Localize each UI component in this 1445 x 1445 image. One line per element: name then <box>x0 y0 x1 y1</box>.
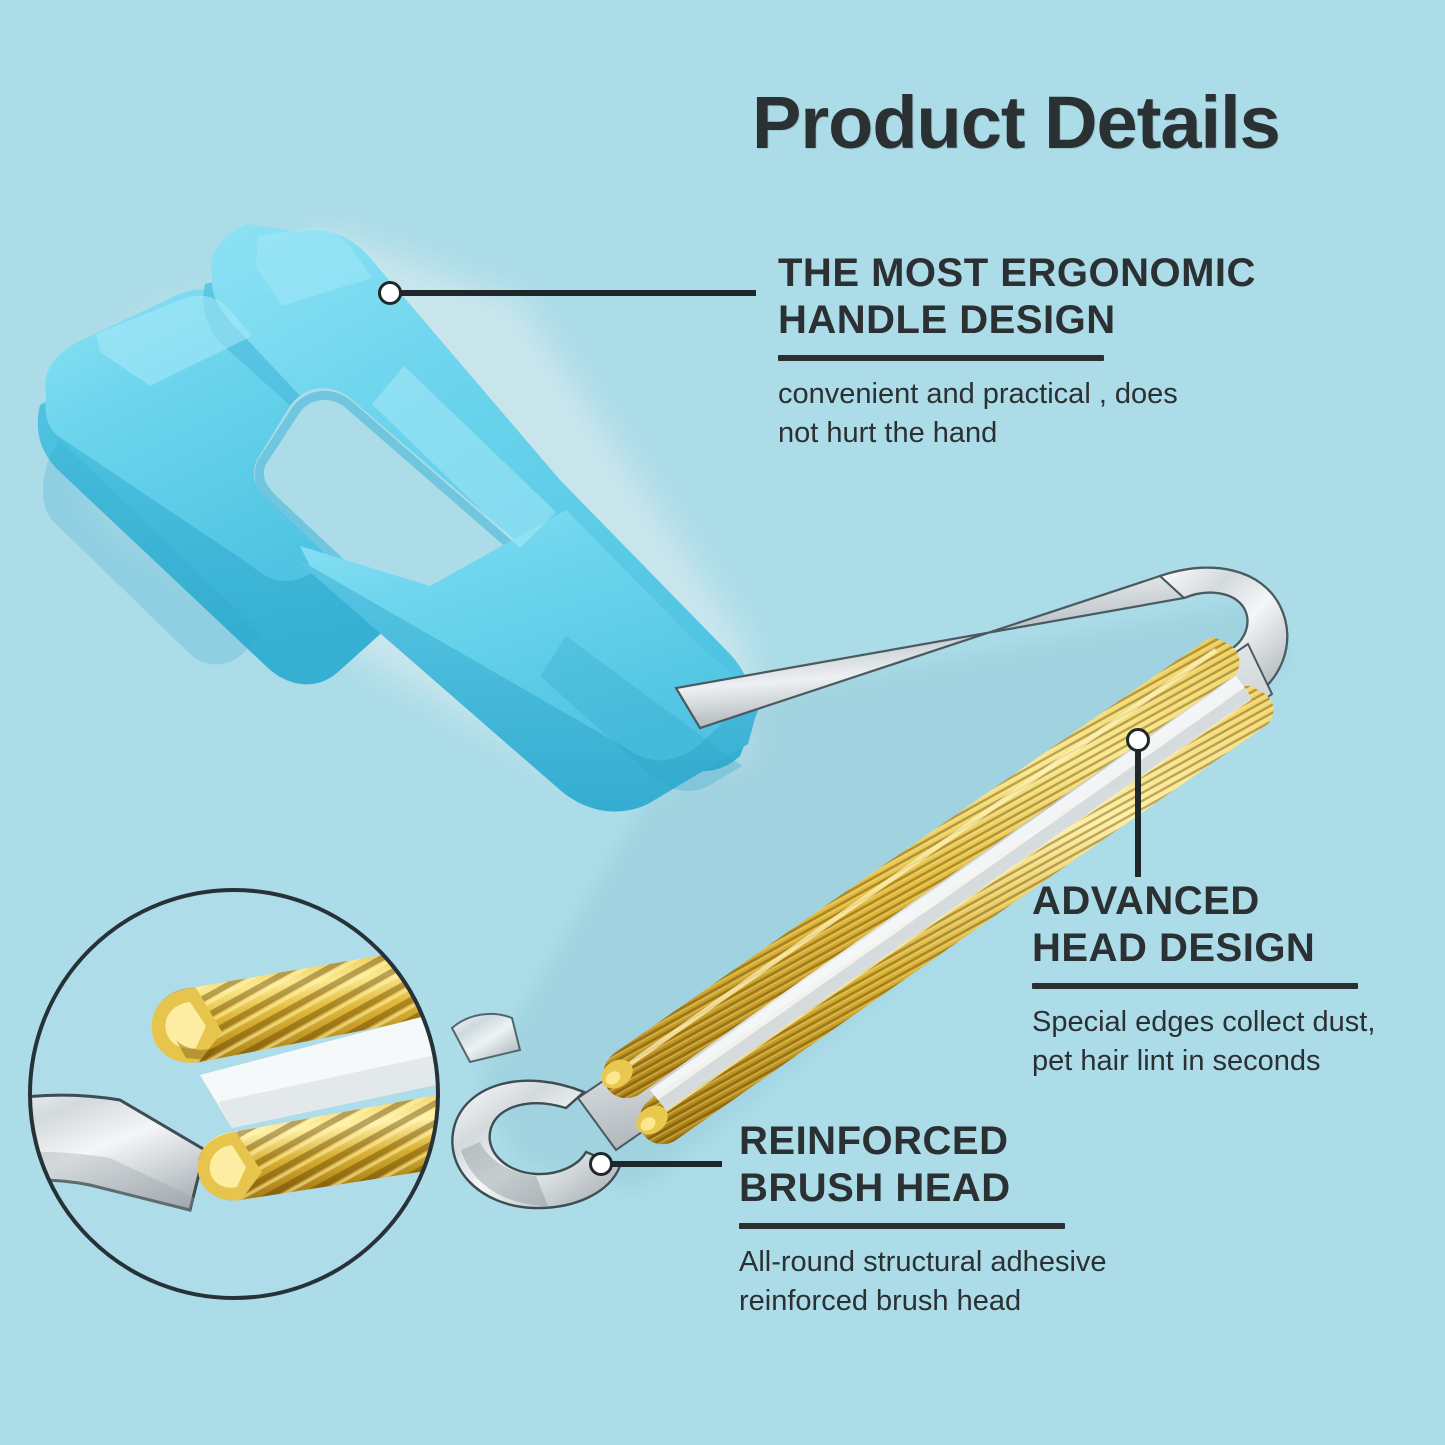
callout-head-rule <box>1032 983 1358 989</box>
callout-head-body-line1: Special edges collect dust, <box>1032 1003 1442 1042</box>
callout-brush: REINFORCED BRUSH HEAD All-round structur… <box>739 1118 1209 1321</box>
leader-line-handle <box>400 290 756 296</box>
callout-head-body-line2: pet hair lint in seconds <box>1032 1042 1442 1081</box>
callout-handle-heading-line1: THE MOST ERGONOMIC <box>778 250 1358 297</box>
callout-handle-body-line2: not hurt the hand <box>778 414 1358 453</box>
callout-head-heading-line1: ADVANCED <box>1032 878 1442 925</box>
magnifier-closeup <box>0 890 560 1298</box>
leader-line-head <box>1135 750 1141 877</box>
leader-line-brush <box>611 1161 722 1167</box>
callout-brush-body-line1: All-round structural adhesive <box>739 1243 1209 1282</box>
callout-brush-body-line2: reinforced brush head <box>739 1282 1209 1321</box>
callout-dot-head[interactable] <box>1126 728 1150 752</box>
callout-handle-body-line1: convenient and practical , does <box>778 375 1358 414</box>
callout-dot-handle[interactable] <box>378 281 402 305</box>
callout-head-heading-line2: HEAD DESIGN <box>1032 925 1442 972</box>
callout-handle-rule <box>778 355 1104 361</box>
product-illustration <box>0 0 1445 1445</box>
callout-brush-heading-line1: REINFORCED <box>739 1118 1209 1165</box>
callout-handle-heading-line2: HANDLE DESIGN <box>778 297 1358 344</box>
callout-handle: THE MOST ERGONOMIC HANDLE DESIGN conveni… <box>778 250 1358 453</box>
product-detail-canvas: Product Details THE MOST ERGONOMIC HANDL… <box>0 0 1445 1445</box>
page-title: Product Details <box>752 86 1280 160</box>
callout-dot-brush[interactable] <box>589 1152 613 1176</box>
callout-brush-heading-line2: BRUSH HEAD <box>739 1165 1209 1212</box>
callout-head: ADVANCED HEAD DESIGN Special edges colle… <box>1032 878 1442 1081</box>
callout-brush-rule <box>739 1223 1065 1229</box>
